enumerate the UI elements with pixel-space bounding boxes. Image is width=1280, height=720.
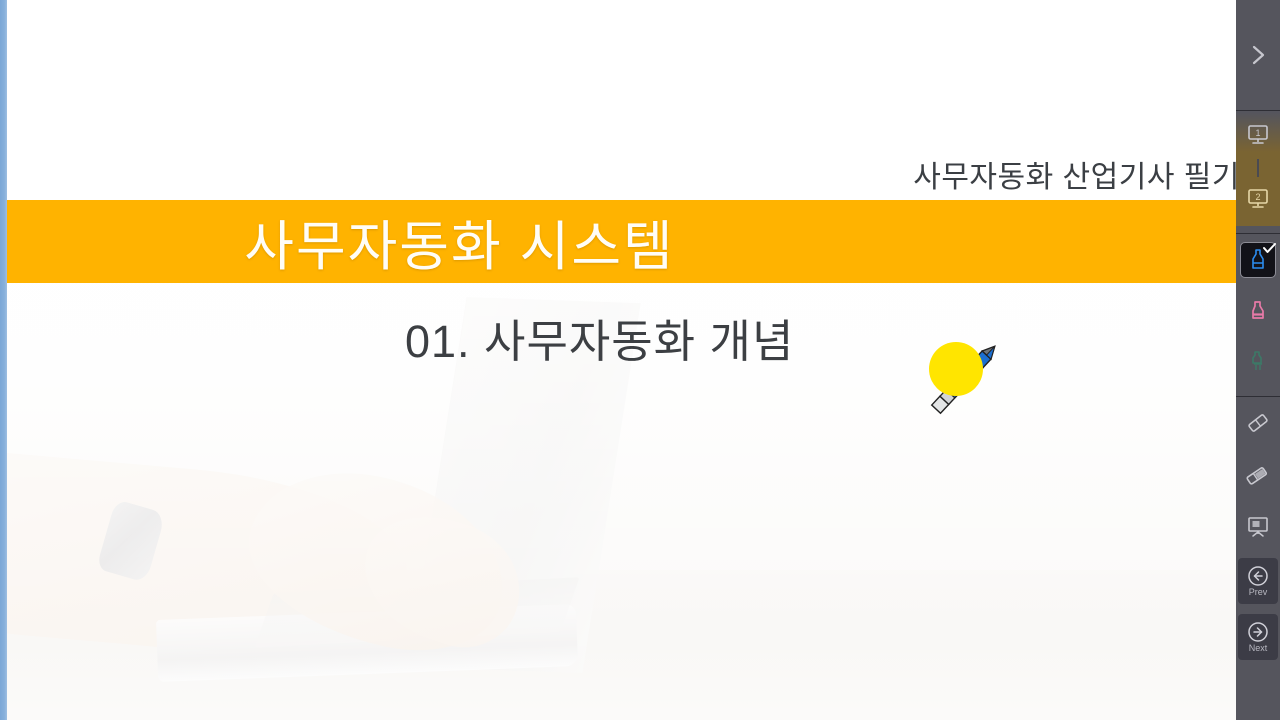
toolbar-erase-all-button[interactable] <box>1236 449 1280 501</box>
slide-canvas[interactable]: 사무자동화 산업기사 필기 사무자동화 시스템 01. 사무자동화 개념 <box>0 0 1236 720</box>
next-button-frame: Next <box>1238 614 1278 660</box>
erase-all-icon <box>1244 463 1272 487</box>
chevron-right-icon <box>1248 42 1268 68</box>
next-button-label: Next <box>1249 644 1268 653</box>
monitor-2-label: 2 <box>1255 192 1260 202</box>
toolbar-highlighter-button[interactable] <box>1236 286 1280 336</box>
monitor-2-icon: 2 <box>1246 187 1270 211</box>
toolbar-collapse-button[interactable] <box>1236 0 1280 110</box>
presentation-viewer: 사무자동화 산업기사 필기 사무자동화 시스템 01. 사무자동화 개념 <box>0 0 1280 720</box>
pen-cursor <box>925 338 1025 443</box>
cursor-highlight-halo <box>929 342 983 396</box>
toolbar-eraser-button[interactable] <box>1236 397 1280 449</box>
page-title: 사무자동화 시스템 <box>244 202 674 281</box>
toolbar-prev-button[interactable]: Prev <box>1236 553 1280 609</box>
monitor-1-icon: 1 <box>1246 123 1270 147</box>
prev-button-label: Prev <box>1249 588 1268 597</box>
toolbar-monitor-1-button[interactable]: 1 <box>1236 111 1280 159</box>
toolbar-whiteboard-button[interactable] <box>1236 501 1280 553</box>
whiteboard-icon <box>1245 515 1271 539</box>
title-band: 사무자동화 시스템 <box>7 200 1236 283</box>
toolbar-next-button[interactable]: Next <box>1236 609 1280 665</box>
arrow-right-circle-icon <box>1247 621 1269 643</box>
slide-subtitle: 01. 사무자동화 개념 <box>405 305 794 370</box>
slide-left-accent-bar <box>0 0 7 720</box>
laser-pointer-icon <box>1248 349 1268 373</box>
toolbar-pen-button[interactable] <box>1236 234 1280 286</box>
course-label: 사무자동화 산업기사 필기 <box>913 152 1236 196</box>
highlighter-icon <box>1247 298 1269 324</box>
annotation-toolbar[interactable]: 1 2 <box>1236 0 1280 720</box>
check-badge-icon <box>1263 243 1276 254</box>
monitor-link-line <box>1257 159 1259 177</box>
arrow-left-circle-icon <box>1247 565 1269 587</box>
monitor-1-label: 1 <box>1255 128 1260 138</box>
eraser-icon <box>1245 411 1271 435</box>
prev-button-frame: Prev <box>1238 558 1278 604</box>
toolbar-laser-pointer-button[interactable] <box>1236 336 1280 386</box>
toolbar-monitor-2-button[interactable]: 2 <box>1236 177 1280 221</box>
pen-button-active-frame <box>1240 242 1276 278</box>
